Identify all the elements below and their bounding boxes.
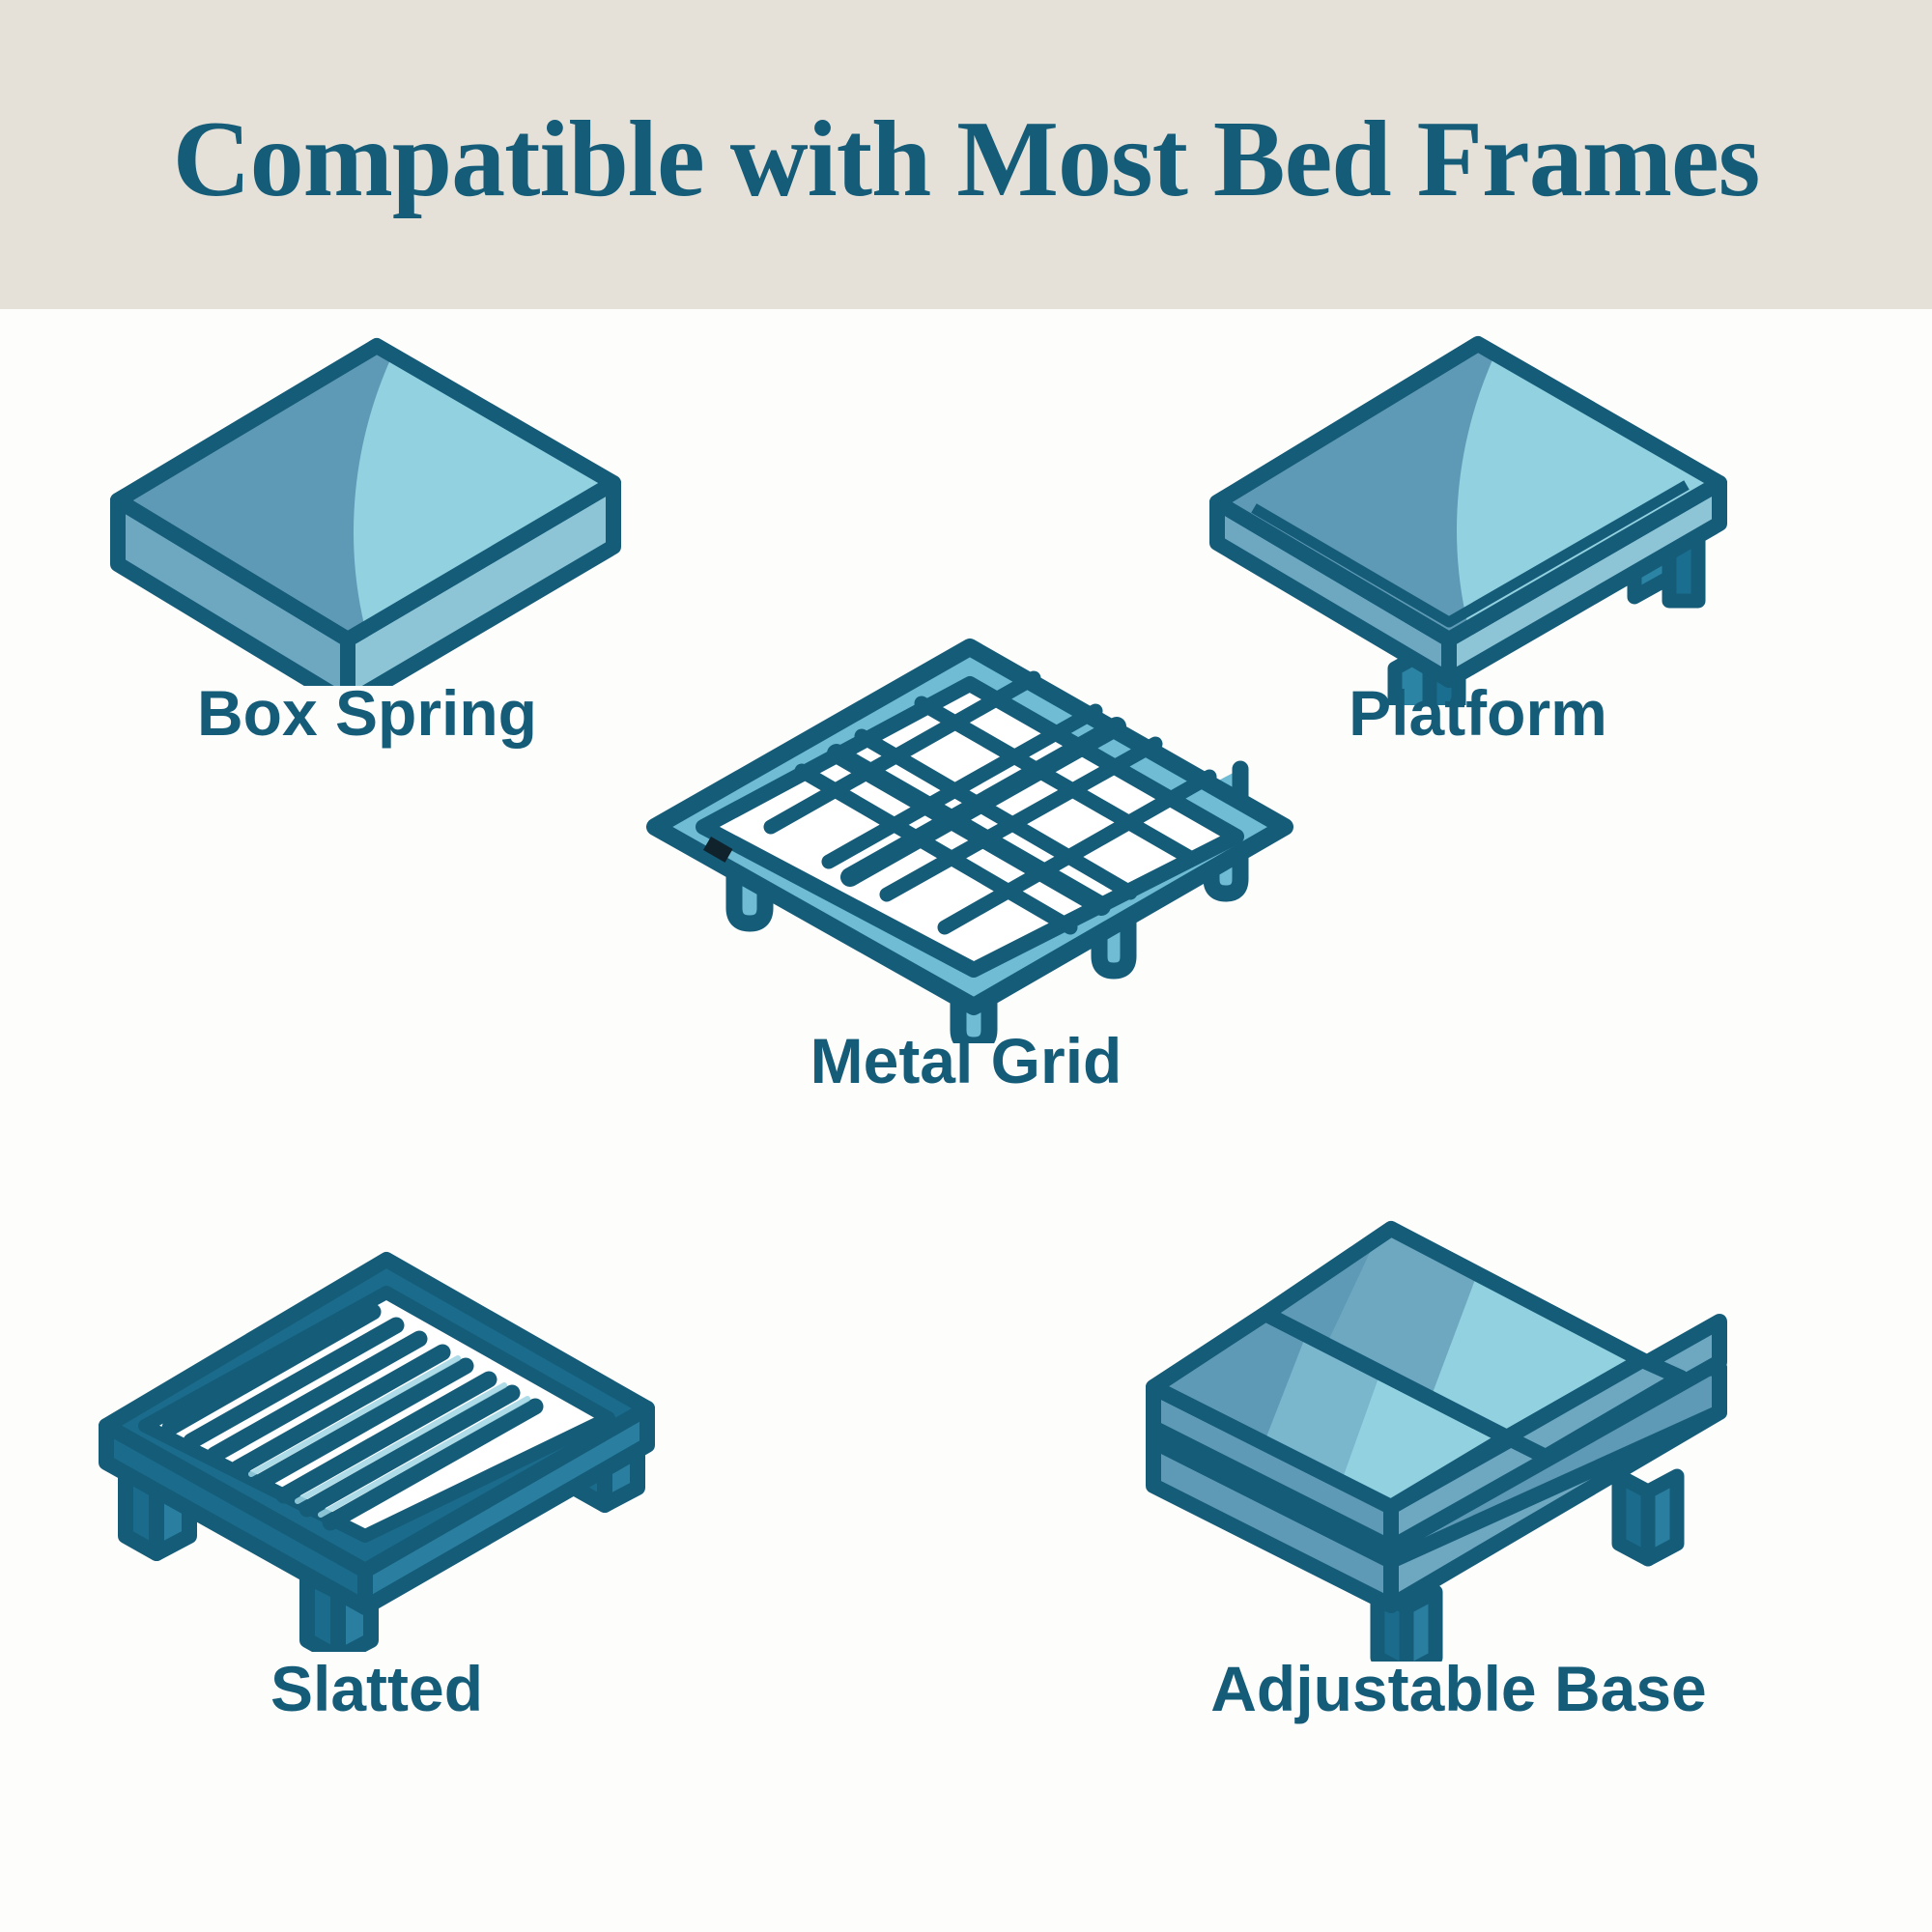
item-metal-grid: Metal Grid <box>618 638 1314 1101</box>
item-slatted: Slatted <box>68 1246 686 1700</box>
adjustable-base-icon <box>1101 1207 1816 1662</box>
metal-grid-icon <box>618 638 1314 1043</box>
box-spring-icon <box>58 319 676 686</box>
slatted-icon <box>68 1246 686 1652</box>
page-title: Compatible with Most Bed Frames <box>173 105 1760 213</box>
item-label-metal-grid: Metal Grid <box>618 1024 1314 1097</box>
infographic-root: Compatible with Most Bed Frames Box Spri… <box>0 0 1932 1932</box>
header-band: Compatible with Most Bed Frames <box>0 0 1932 309</box>
item-label-box-spring: Box Spring <box>58 676 676 750</box>
item-adjustable-base: Adjustable Base <box>1101 1207 1816 1700</box>
item-label-slatted: Slatted <box>68 1652 686 1725</box>
item-label-adjustable-base: Adjustable Base <box>1101 1652 1816 1725</box>
item-box-spring: Box Spring <box>58 319 676 782</box>
